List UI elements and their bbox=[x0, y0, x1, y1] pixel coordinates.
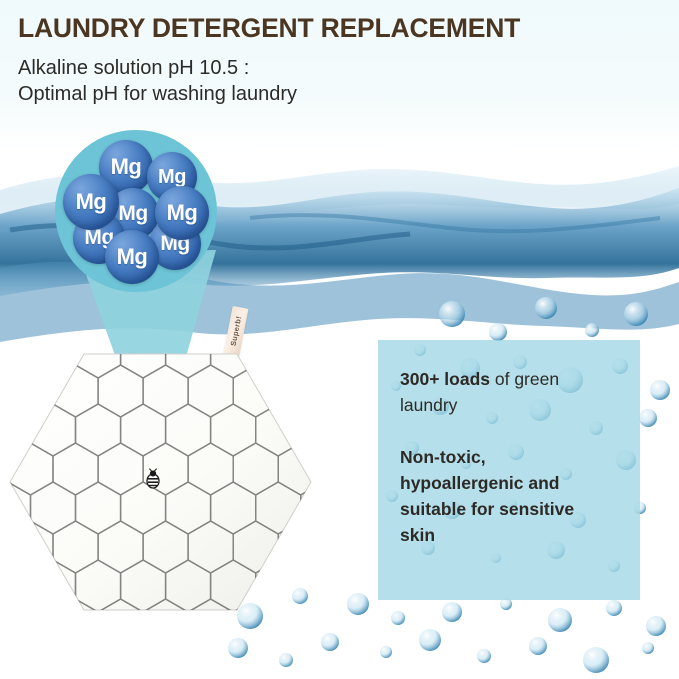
benefit-loads-rest: of green bbox=[490, 369, 559, 389]
benefit-loads-count: 300+ loads bbox=[400, 369, 490, 389]
benefit-loads: 300+ loads of green bbox=[400, 366, 624, 392]
text-spacer bbox=[400, 418, 624, 444]
product-tab-label: Superb! bbox=[229, 315, 244, 347]
molecule-sphere: Mg bbox=[155, 186, 209, 240]
subtitle-line-2: Optimal pH for washing laundry bbox=[18, 81, 297, 107]
infographic-page: LAUNDRY DETERGENT REPLACEMENT Alkaline s… bbox=[0, 0, 679, 679]
bee-logo bbox=[143, 468, 163, 490]
header: LAUNDRY DETERGENT REPLACEMENT Alkaline s… bbox=[0, 0, 679, 122]
benefits-text: 300+ loads of green laundry Non-toxic, h… bbox=[400, 366, 624, 548]
benefit-hypoallergenic: hypoallergenic and bbox=[400, 473, 559, 493]
benefit-sensitive: suitable for sensitive bbox=[400, 499, 574, 519]
subtitle: Alkaline solution pH 10.5 : Optimal pH f… bbox=[18, 55, 297, 107]
molecule-sphere: Mg bbox=[105, 230, 159, 284]
subtitle-line-1: Alkaline solution pH 10.5 : bbox=[18, 55, 297, 81]
molecule-sphere: Mg bbox=[63, 174, 119, 230]
benefits-callout: 300+ loads of green laundry Non-toxic, h… bbox=[378, 340, 640, 600]
benefit-nontoxic: Non-toxic, bbox=[400, 447, 486, 467]
benefit-skin: skin bbox=[400, 525, 435, 545]
page-title: LAUNDRY DETERGENT REPLACEMENT bbox=[18, 13, 520, 44]
benefit-loads-line2: laundry bbox=[400, 392, 624, 418]
